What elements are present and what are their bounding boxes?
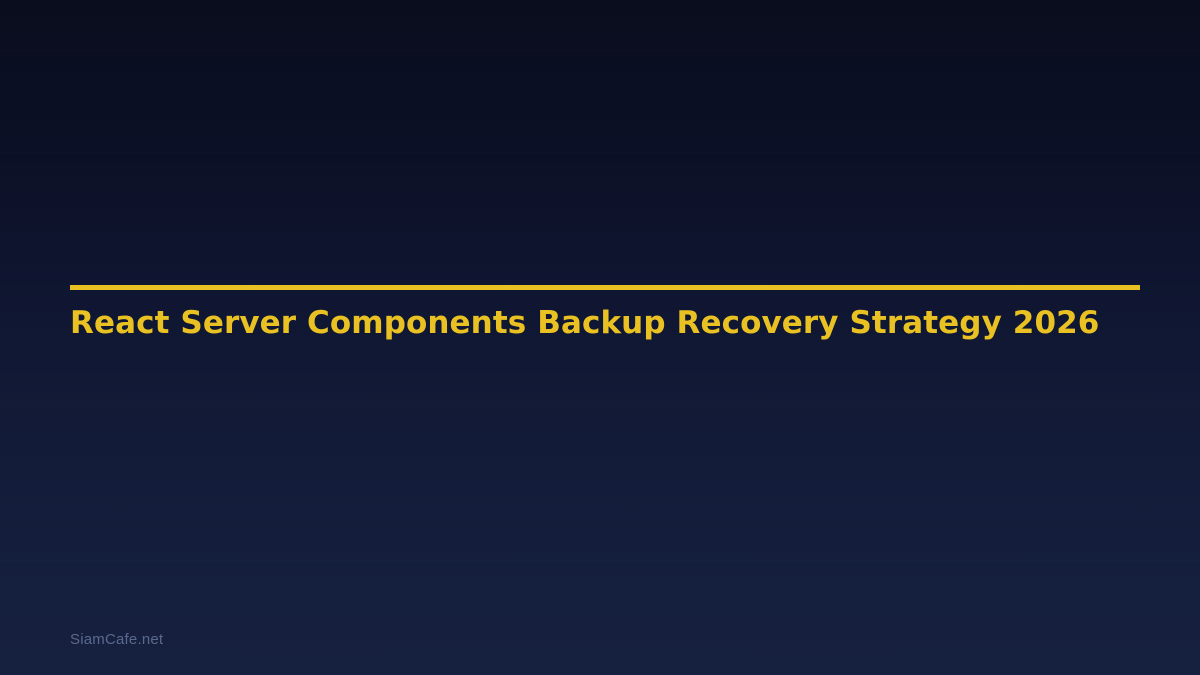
gradient-band [0,406,1200,407]
footer-brand-label: SiamCafe.net [70,630,163,650]
page-title: React Server Components Backup Recovery … [70,304,1170,342]
gradient-band [0,152,1200,153]
gradient-band [0,560,1200,561]
title-block: React Server Components Backup Recovery … [70,285,1140,290]
gradient-band [0,50,1200,51]
accent-rule [70,285,1140,290]
slide-canvas: React Server Components Backup Recovery … [0,0,1200,675]
